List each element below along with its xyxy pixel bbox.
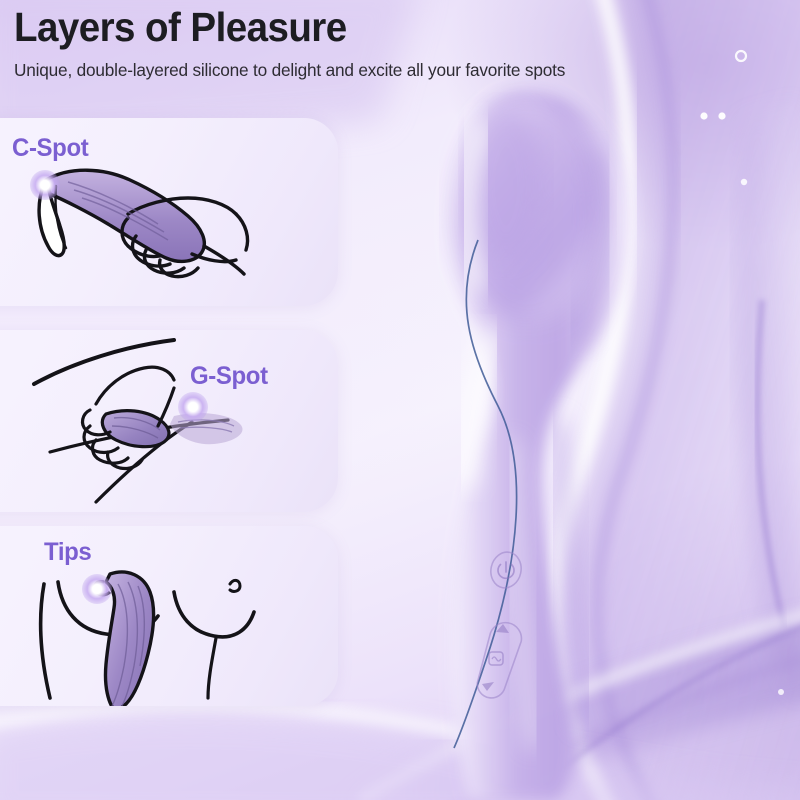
power-button [488, 549, 525, 590]
button-strip [475, 619, 524, 701]
panel-g-spot: G-Spot [0, 330, 338, 512]
product-feature-image: Layers of Pleasure Unique, double-layere… [0, 0, 800, 800]
triangle-down-icon [482, 682, 494, 691]
header: Layers of Pleasure Unique, double-layere… [14, 2, 774, 82]
label-c-spot: C-Spot [12, 134, 88, 163]
label-tips: Tips [44, 538, 91, 567]
page-title: Layers of Pleasure [14, 2, 728, 52]
illustration-g-spot [0, 330, 338, 512]
stimulation-point-indicator [30, 170, 60, 200]
stimulation-point-indicator [82, 574, 112, 604]
wave-mode-icon [489, 652, 503, 665]
panel-tips: Tips [0, 526, 338, 706]
stimulation-point-indicator [178, 392, 208, 422]
panel-c-spot: C-Spot [0, 118, 338, 306]
label-g-spot: G-Spot [190, 362, 268, 391]
product-control-panel [462, 528, 592, 708]
triangle-up-icon [496, 624, 509, 633]
page-subtitle: Unique, double-layered silicone to delig… [14, 58, 763, 82]
